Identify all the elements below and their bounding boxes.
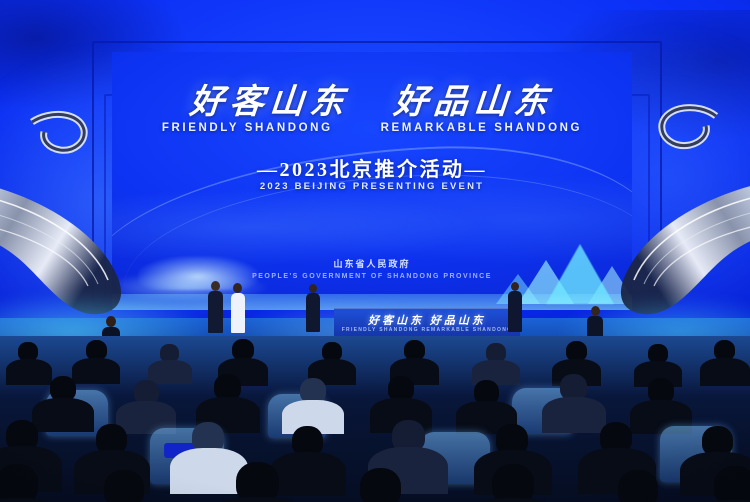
- audience-shoulder: [700, 358, 750, 386]
- led-screen: 好客山东 好品山东 FRIENDLY SHANDONG REMARKABLE S…: [112, 52, 632, 310]
- event-photo: 好客山东 好品山东 FRIENDLY SHANDONG REMARKABLE S…: [0, 0, 750, 502]
- audience-shoulder: [0, 498, 68, 502]
- person-body: [508, 291, 522, 332]
- audience-shoulder: [148, 360, 192, 384]
- audience-head: [0, 464, 38, 502]
- audience-shoulder: [542, 397, 606, 433]
- audience-head: [86, 340, 107, 360]
- audience-area: [0, 336, 750, 502]
- audience-shoulder: [270, 452, 346, 496]
- person-body: [208, 291, 223, 333]
- audience-head: [236, 462, 279, 502]
- audience-head: [566, 341, 587, 361]
- event-title-cn: —2023北京推介活动—: [112, 153, 632, 182]
- person-head: [106, 316, 116, 327]
- audience-shoulder: [6, 359, 52, 385]
- audience-head: [360, 468, 401, 502]
- stage-person-host-female: [229, 283, 246, 333]
- organizer-en: PEOPLE'S GOVERNMENT OF SHANDONG PROVINCE: [112, 273, 632, 280]
- podium-banner-cn: 好客山东 好品山东: [334, 312, 520, 328]
- audience-head: [232, 339, 254, 360]
- person-body: [231, 293, 245, 333]
- stage-person-guest-right: [507, 282, 523, 332]
- headline-row: 好客山东 好品山东: [112, 74, 632, 123]
- subtitle-right-en: REMARKABLE SHANDONG: [381, 122, 582, 134]
- person-head: [309, 284, 317, 293]
- organizer-cn: 山东省人民政府: [112, 257, 632, 270]
- person-head: [211, 281, 220, 291]
- stage-person-host-male: [207, 281, 224, 333]
- headline-right-cn: 好品山东: [392, 74, 556, 123]
- audience-head: [404, 340, 425, 360]
- audience-head: [104, 470, 144, 502]
- audience-head: [714, 340, 735, 360]
- headline-left-cn: 好客山东: [188, 74, 352, 123]
- person-head: [233, 283, 242, 293]
- event-title-en: 2023 BEIJING PRESENTING EVENT: [112, 181, 632, 192]
- audience-head: [714, 466, 750, 502]
- subtitle-left-en: FRIENDLY SHANDONG: [162, 122, 333, 134]
- audience-shoulder: [72, 358, 120, 384]
- person-head: [511, 282, 519, 291]
- podium-banner: 好客山东 好品山东 FRIENDLY SHANDONG REMARKABLE S…: [334, 308, 520, 339]
- audience-shoulder: [32, 398, 94, 432]
- audience-shoulder: [462, 498, 564, 502]
- person-head: [591, 306, 600, 316]
- audience-shoulder: [206, 497, 310, 502]
- subtitle-row: FRIENDLY SHANDONG REMARKABLE SHANDONG: [112, 122, 632, 134]
- led-content: 好客山东 好品山东 FRIENDLY SHANDONG REMARKABLE S…: [112, 52, 632, 310]
- audience-head: [618, 470, 658, 502]
- person-body: [306, 293, 320, 332]
- podium-banner-en: FRIENDLY SHANDONG REMARKABLE SHANDONG: [334, 327, 520, 333]
- stage-person-guest-left: [305, 284, 321, 332]
- audience-head: [492, 464, 534, 502]
